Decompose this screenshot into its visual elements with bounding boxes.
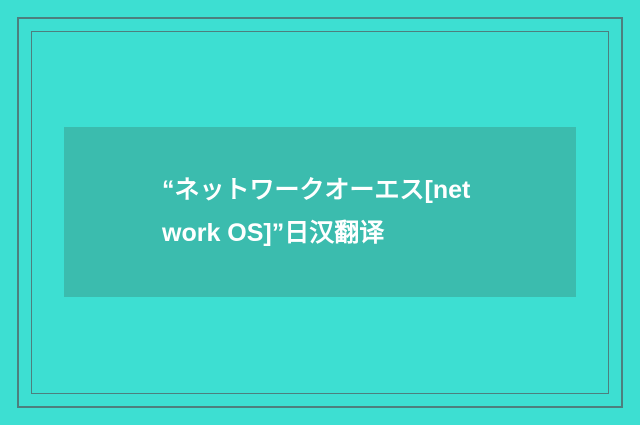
page-title: “ネットワークオーエス[network OS]”日汉翻译 [162, 169, 478, 255]
title-plate: “ネットワークオーエス[network OS]”日汉翻译 [64, 127, 576, 297]
thumbnail-canvas: “ネットワークオーエス[network OS]”日汉翻译 [0, 0, 640, 425]
